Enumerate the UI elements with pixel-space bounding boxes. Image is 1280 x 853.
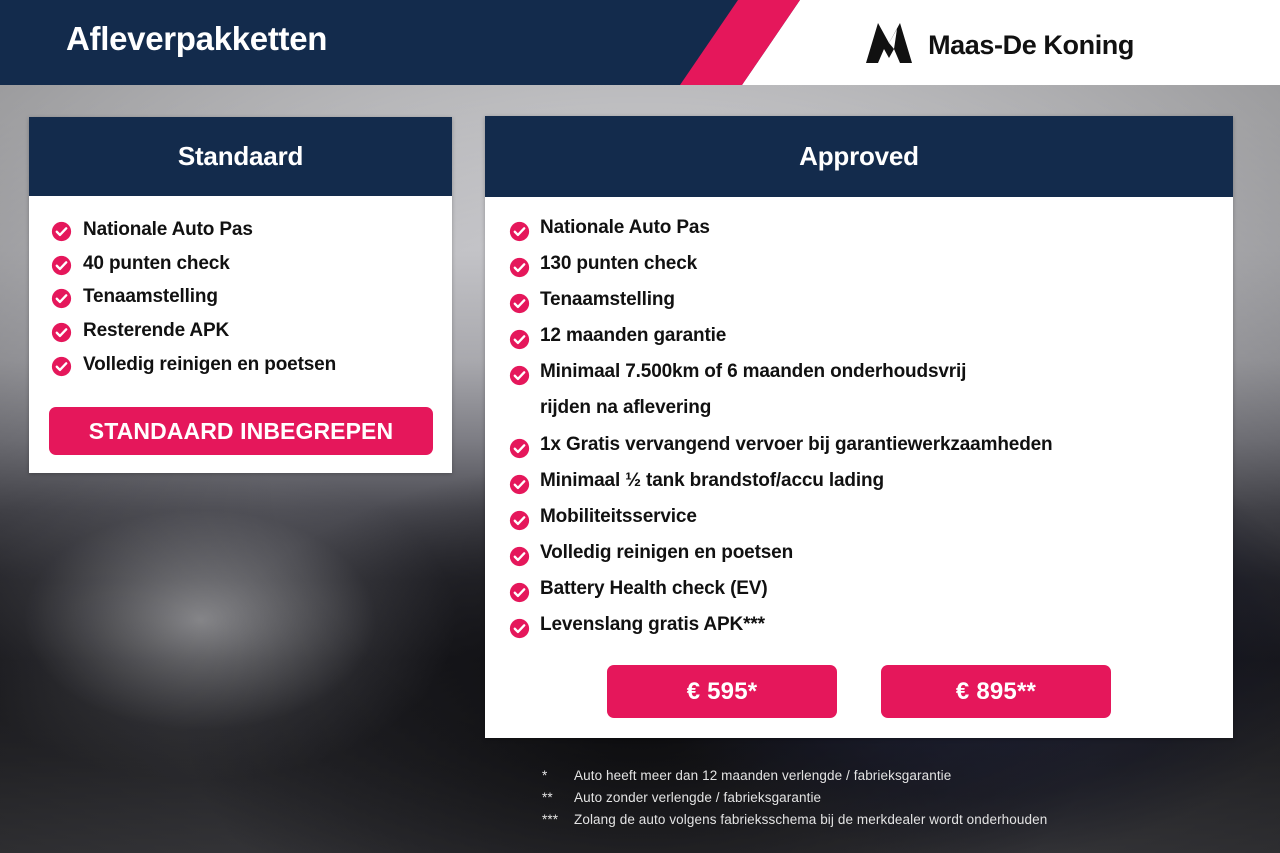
check-circle-icon [509,474,530,495]
card-title-standaard: Standaard [178,141,303,172]
brand-logo: Maas-De Koning [864,21,1134,70]
list-item: Resterende APK [29,318,452,344]
check-circle-icon [51,356,72,377]
card-header-approved: Approved [485,116,1233,197]
list-item: Battery Health check (EV) [485,578,1233,607]
price-button-895[interactable]: € 895** [881,665,1111,718]
list-item: Mobiliteitsservice [485,506,1233,535]
list-item: 1x Gratis vervangend vervoer bij garanti… [485,434,1233,463]
check-circle-icon [51,322,72,343]
package-card-standaard: Standaard Nationale Auto Pas [29,117,452,473]
check-circle-icon [509,510,530,531]
page-root: Afleverpakketten Maas-De Koning Standaar… [0,0,1280,853]
feature-label: Levenslang gratis APK*** [540,607,765,643]
standaard-inbegrepen-button[interactable]: STANDAARD INBEGREPEN [49,407,433,455]
check-circle-icon [509,618,530,639]
feature-label: Mobiliteitsservice [540,499,697,535]
list-item: 40 punten check [29,251,452,277]
list-item: 12 maanden garantie [485,325,1233,354]
list-item: Volledig reinigen en poetsen [29,352,452,378]
page-header: Afleverpakketten Maas-De Koning [0,0,1280,85]
feature-label: Tenaamstelling [83,284,218,310]
list-item: Levenslang gratis APK*** [485,614,1233,643]
feature-label: Nationale Auto Pas [540,210,710,246]
card-title-approved: Approved [799,141,919,172]
card-header-standaard: Standaard [29,117,452,196]
page-title: Afleverpakketten [66,20,327,58]
feature-label: Tenaamstelling [540,282,675,318]
feature-label: Battery Health check (EV) [540,571,768,607]
list-item: Tenaamstelling [485,289,1233,318]
card-body-standaard: Nationale Auto Pas 40 punten check [29,196,452,473]
feature-label-line2: rijden na aflevering [540,390,966,426]
footnote-text: Zolang de auto volgens fabrieksschema bi… [574,809,1047,831]
feature-label: Volledig reinigen en poetsen [83,352,336,378]
feature-label: 1x Gratis vervangend vervoer bij garanti… [540,427,1053,463]
check-circle-icon [509,365,530,386]
price-button-595[interactable]: € 595* [607,665,837,718]
card-body-approved: Nationale Auto Pas 130 punten check [485,197,1233,738]
list-item: Nationale Auto Pas [485,217,1233,246]
maas-de-koning-m-icon [864,21,914,70]
feature-label-multiline: Minimaal 7.500km of 6 maanden onderhouds… [540,354,966,426]
list-item: Minimaal 7.500km of 6 maanden onderhouds… [485,361,1233,426]
check-circle-icon [509,221,530,242]
footnote-mark: ** [542,787,574,809]
feature-label: Volledig reinigen en poetsen [540,535,793,571]
price-button-row: € 595* € 895** [485,665,1233,724]
footnote-double-asterisk: ** Auto zonder verlengde / fabrieksgaran… [542,787,1047,809]
check-circle-icon [509,257,530,278]
feature-label: 130 punten check [540,246,697,282]
list-item: Tenaamstelling [29,284,452,310]
footnotes: * Auto heeft meer dan 12 maanden verleng… [542,765,1047,831]
footnote-text: Auto heeft meer dan 12 maanden verlengde… [574,765,951,787]
check-circle-icon [509,329,530,350]
footnote-text: Auto zonder verlengde / fabrieksgarantie [574,787,821,809]
list-item: 130 punten check [485,253,1233,282]
feature-label: Resterende APK [83,318,229,344]
check-circle-icon [51,288,72,309]
feature-label: 12 maanden garantie [540,318,726,354]
footnote-single-asterisk: * Auto heeft meer dan 12 maanden verleng… [542,765,1047,787]
brand-name: Maas-De Koning [928,30,1134,61]
feature-label: Minimaal ½ tank brandstof/accu lading [540,463,884,499]
check-circle-icon [509,582,530,603]
footnote-mark: *** [542,809,574,831]
check-circle-icon [509,293,530,314]
footnote-triple-asterisk: *** Zolang de auto volgens fabrieksschem… [542,809,1047,831]
feature-label: Nationale Auto Pas [83,217,253,243]
feature-list-approved: Nationale Auto Pas 130 punten check [485,217,1233,643]
feature-list-standaard: Nationale Auto Pas 40 punten check [29,217,452,377]
list-item: Minimaal ½ tank brandstof/accu lading [485,470,1233,499]
check-circle-icon [51,255,72,276]
list-item: Nationale Auto Pas [29,217,452,243]
package-card-approved: Approved Nationale Auto Pas [485,116,1233,738]
footnote-mark: * [542,765,574,787]
list-item: Volledig reinigen en poetsen [485,542,1233,571]
feature-label-line1: Minimaal 7.500km of 6 maanden onderhouds… [540,361,966,382]
feature-label: 40 punten check [83,251,230,277]
check-circle-icon [509,438,530,459]
check-circle-icon [51,221,72,242]
check-circle-icon [509,546,530,567]
